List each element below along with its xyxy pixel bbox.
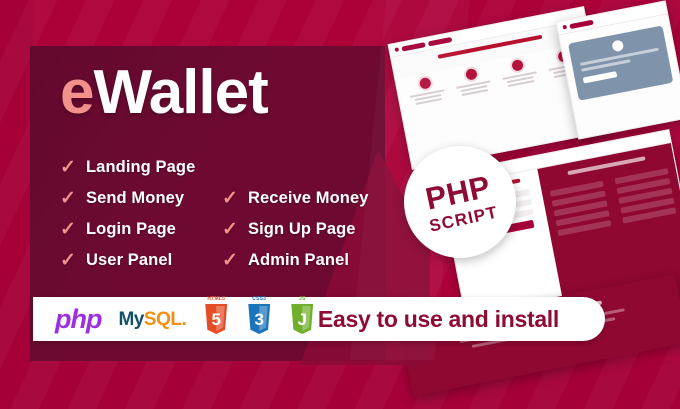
css3-label: CSS3 <box>246 296 272 302</box>
page-title: eWallet <box>60 62 268 124</box>
feature-label: Send Money <box>86 189 184 208</box>
mockup-nav-pill <box>569 19 594 28</box>
feature-row: ✓ User Panel ✓ Admin Panel <box>60 245 390 276</box>
feature-item-receive-money: ✓ Receive Money <box>222 189 384 208</box>
feature-item-admin-panel: ✓ Admin Panel <box>222 251 384 270</box>
check-icon: ✓ <box>222 189 239 208</box>
css3-logo: CSS3 3 <box>246 304 272 334</box>
technology-logos: php MySQL. HTML5 5 CSS3 3 JS J <box>33 304 315 334</box>
feature-item-sign-up-page: ✓ Sign Up Page <box>222 220 384 239</box>
js-label: JS <box>289 296 315 302</box>
logo-prefix: e <box>60 58 93 127</box>
feature-list: ✓ Landing Page ✓ ✓ Send Money ✓ Receive … <box>60 152 390 276</box>
css3-glyph: 3 <box>255 311 264 334</box>
feature-row: ✓ Login Page ✓ Sign Up Page <box>60 214 390 245</box>
technology-bar: php MySQL. HTML5 5 CSS3 3 JS J Easy to <box>33 297 605 341</box>
login-card-mockup <box>556 0 680 139</box>
mockup-feature-column <box>496 56 541 90</box>
js-logo: JS J <box>289 304 315 334</box>
check-icon: ✓ <box>222 220 239 239</box>
feature-label: User Panel <box>86 251 172 270</box>
check-icon: ✓ <box>60 251 77 270</box>
feature-item-login-page: ✓ Login Page <box>60 220 222 239</box>
tagline: Easy to use and install <box>318 306 605 333</box>
mockup-login-card <box>568 26 673 101</box>
feature-item-send-money: ✓ Send Money <box>60 189 222 208</box>
html5-logo: HTML5 5 <box>203 304 229 334</box>
mockup-button <box>583 71 617 83</box>
mockup-feature-icon <box>511 59 524 72</box>
html5-glyph: 5 <box>212 311 221 334</box>
logo-suffix: Wallet <box>93 58 267 127</box>
feature-label: Receive Money <box>248 189 369 208</box>
html5-label: HTML5 <box>203 296 229 302</box>
check-icon: ✓ <box>222 251 239 270</box>
feature-label: Login Page <box>86 220 176 239</box>
feature-item-landing-page: ✓ Landing Page <box>60 158 222 177</box>
feature-label: Sign Up Page <box>248 220 356 239</box>
mysql-logo-primary: My <box>118 309 143 330</box>
promo-banner: eWallet ✓ Landing Page ✓ ✓ Send Money ✓ … <box>0 0 680 409</box>
mockup-feature-icon <box>465 68 478 81</box>
mockup-dot-icon <box>562 25 567 30</box>
mockup-avatar <box>611 40 624 53</box>
js-glyph: J <box>298 311 307 334</box>
check-icon: ✓ <box>60 220 77 239</box>
mysql-logo: MySQL. <box>118 310 186 329</box>
feature-row: ✓ Send Money ✓ Receive Money <box>60 183 390 214</box>
check-icon: ✓ <box>60 189 77 208</box>
feature-row: ✓ Landing Page ✓ <box>60 152 390 183</box>
php-logo: php <box>55 306 101 333</box>
feature-item-user-panel: ✓ User Panel <box>60 251 222 270</box>
mysql-logo-secondary: SQL. <box>144 309 186 330</box>
check-icon: ✓ <box>60 158 77 177</box>
feature-label: Landing Page <box>86 158 195 177</box>
feature-label: Admin Panel <box>248 251 349 270</box>
